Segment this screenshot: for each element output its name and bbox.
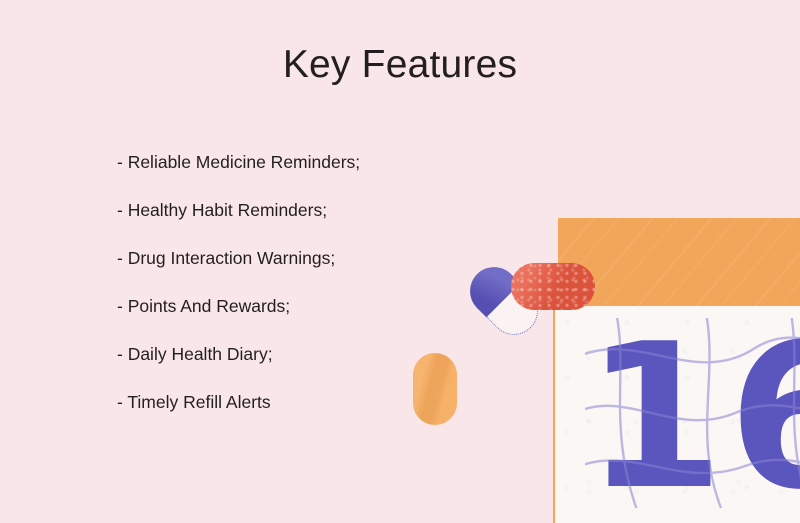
calendar-date-texture [585,318,800,508]
list-item: - Drug Interaction Warnings; [117,246,497,294]
feature-list: - Reliable Medicine Reminders; - Healthy… [117,150,497,438]
list-item: - Timely Refill Alerts [117,390,497,438]
red-capsule-icon [511,263,595,310]
calendar-date-number: 16 [585,318,800,518]
page-title: Key Features [0,44,800,87]
slide-canvas: 16 Key Features - Reliable Medici [0,0,800,523]
calendar-body [553,306,800,523]
list-item: - Daily Health Diary; [117,342,497,390]
calendar-header-bar [558,218,800,306]
list-item: - Points And Rewards; [117,294,497,342]
list-item: - Healthy Habit Reminders; [117,198,497,246]
list-item: - Reliable Medicine Reminders; [117,150,497,198]
